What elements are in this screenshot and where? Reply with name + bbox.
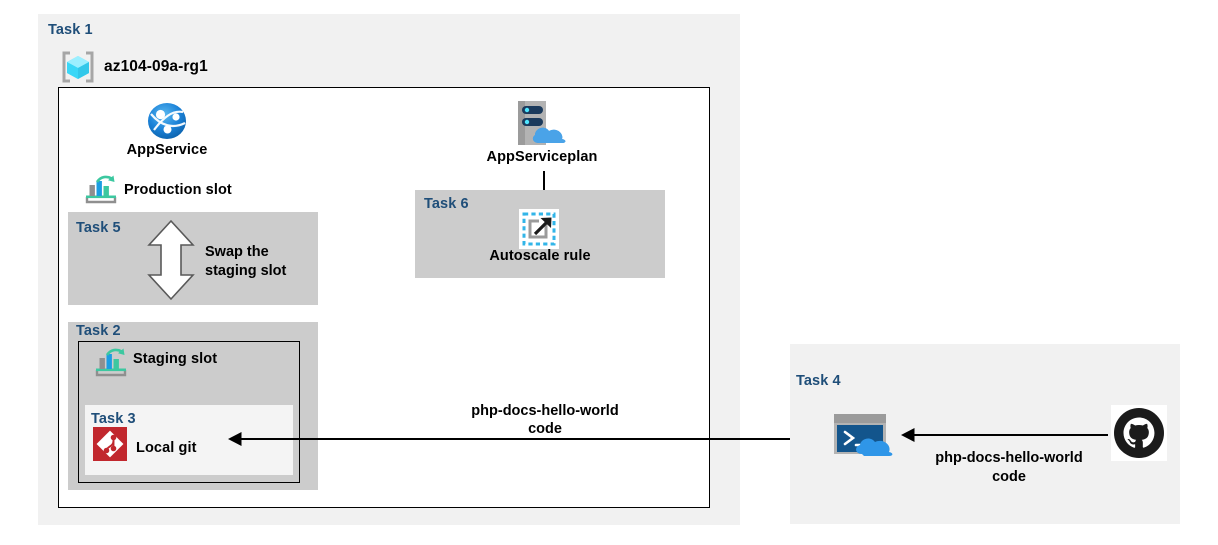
github-to-cloudshell-arrow-line [912, 434, 1108, 436]
app-service-plan-label: AppServiceplan [452, 149, 632, 165]
app-service-label: AppService [88, 142, 246, 158]
cloudshell-to-git-arrowhead [228, 432, 242, 446]
deployment-slot-icon-staging [95, 348, 127, 378]
cloudshell-to-git-arrow-line [240, 438, 816, 440]
deployment-slot-icon-production [85, 175, 117, 205]
task2-label: Task 2 [76, 323, 121, 339]
production-slot-label: Production slot [124, 182, 232, 198]
git-icon [93, 427, 127, 461]
autoscale-rule-icon [519, 209, 559, 249]
cloud-shell-icon [832, 412, 900, 458]
autoscale-rule-label: Autoscale rule [450, 248, 630, 264]
task5-action-line2: staging slot [205, 262, 317, 282]
resource-group-name: az104-09a-rg1 [104, 58, 208, 76]
swap-double-arrow-icon [145, 219, 197, 301]
task1-label: Task 1 [48, 22, 93, 38]
task4-arrow-label-line2: code [918, 468, 1100, 488]
github-to-cloudshell-arrowhead [901, 428, 915, 442]
local-git-label: Local git [136, 440, 197, 456]
task3-label: Task 3 [91, 411, 136, 427]
task4-arrow-label-line1: php-docs-hello-world [918, 449, 1100, 469]
github-icon [1111, 405, 1167, 461]
app-service-plan-icon [512, 99, 570, 149]
task6-label: Task 6 [424, 196, 469, 212]
app-service-icon [145, 101, 189, 141]
main-arrow-label-line2: code [455, 420, 635, 440]
staging-slot-label: Staging slot [133, 351, 217, 367]
resource-group-icon [59, 48, 97, 86]
task4-label: Task 4 [796, 373, 841, 389]
task5-label: Task 5 [76, 220, 121, 236]
task5-action-line1: Swap the [205, 243, 317, 263]
main-arrow-label-line1: php-docs-hello-world [455, 402, 635, 422]
diagram-canvas: Task 1 az104-09a-rg1 [0, 0, 1218, 545]
